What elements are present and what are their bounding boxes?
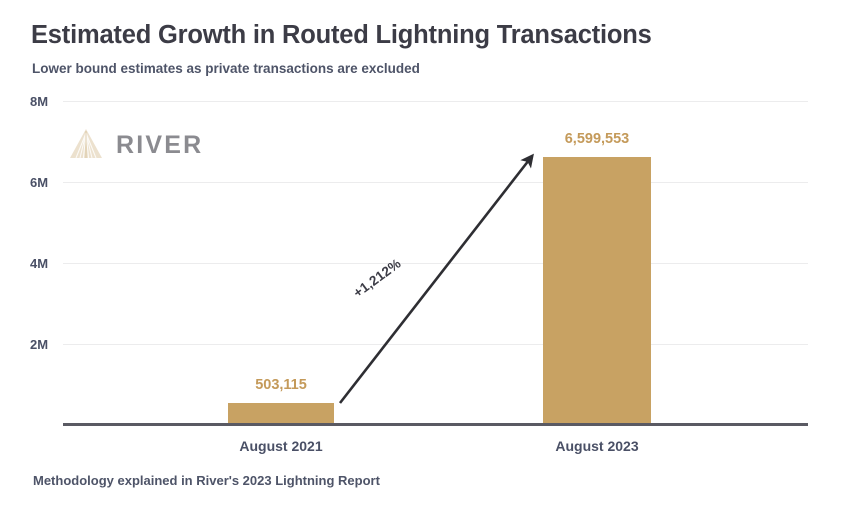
gridline-4m <box>63 263 808 264</box>
gridline-6m <box>63 182 808 183</box>
bar-august-2023[interactable] <box>543 157 651 423</box>
river-delta-logo-icon <box>68 127 104 163</box>
gridline-2m <box>63 344 808 345</box>
xtick-label-august-2021: August 2021 <box>221 438 341 454</box>
ytick-label-4m: 4M <box>30 257 58 270</box>
ytick-label-8m: 8M <box>30 95 58 108</box>
river-logo-text: RIVER <box>116 133 203 158</box>
plot-area: 8M 6M 4M 2M 503,115 August 2021 6,599,55… <box>0 0 850 521</box>
ytick-label-2m: 2M <box>30 338 58 351</box>
x-axis-baseline <box>63 423 808 426</box>
gridline-8m <box>63 101 808 102</box>
ytick-label-6m: 6M <box>30 176 58 189</box>
chart-footnote: Methodology explained in River's 2023 Li… <box>33 472 380 490</box>
xtick-label-august-2023: August 2023 <box>537 438 657 454</box>
bar-value-august-2021: 503,115 <box>221 377 341 393</box>
bar-value-august-2023: 6,599,553 <box>537 131 657 147</box>
chart-figure: Estimated Growth in Routed Lightning Tra… <box>0 0 850 521</box>
river-logo: RIVER <box>68 127 203 163</box>
bar-august-2021[interactable] <box>228 403 334 423</box>
